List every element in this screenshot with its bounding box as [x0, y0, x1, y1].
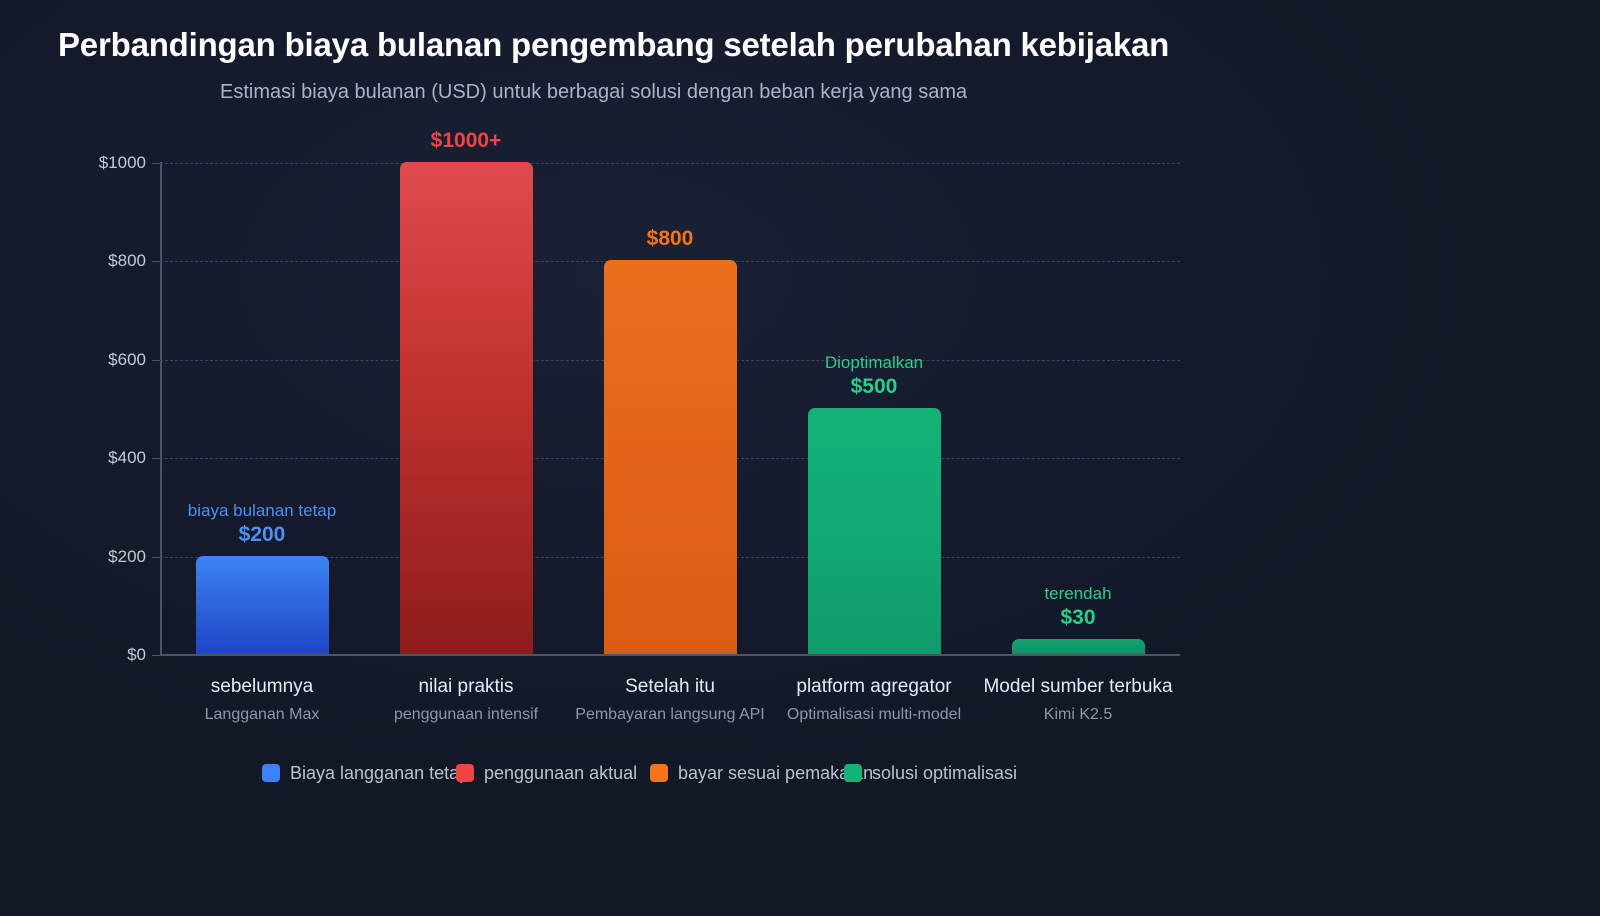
- bar-value-label: $800: [647, 226, 694, 252]
- legend-item[interactable]: Biaya langganan tetap: [262, 758, 469, 788]
- x-axis-sublabel: Langganan Max: [205, 706, 320, 724]
- legend-label: Biaya langganan tetap: [290, 763, 469, 784]
- grid-line: [160, 163, 1180, 164]
- legend-item[interactable]: solusi optimalisasi: [844, 758, 1017, 788]
- x-axis-sublabel: Optimalisasi multi-model: [787, 706, 961, 724]
- bar-value-annotation: Dioptimalkan$500: [825, 352, 923, 400]
- y-axis-tick-label: $800: [108, 251, 146, 271]
- bar-value-label: $1000+: [431, 128, 502, 154]
- bar-value-annotation: terendah$30: [1044, 583, 1111, 631]
- legend-color-swatch: [456, 764, 474, 782]
- y-axis-tick: [152, 655, 160, 656]
- y-axis-tick: [152, 557, 160, 558]
- y-axis-tick: [152, 458, 160, 459]
- chart-legend: Biaya langganan tetappenggunaan aktualba…: [0, 758, 1600, 788]
- y-axis-tick: [152, 163, 160, 164]
- x-axis-label: Setelah itu: [625, 676, 715, 698]
- x-axis-label: Model sumber terbuka: [983, 676, 1172, 698]
- legend-color-swatch: [844, 764, 862, 782]
- legend-label: solusi optimalisasi: [872, 763, 1017, 784]
- chart-canvas: Perbandingan biaya bulanan pengembang se…: [0, 0, 1600, 916]
- x-axis-line: [160, 654, 1180, 656]
- bar[interactable]: [400, 162, 533, 654]
- x-axis-sublabel: Kimi K2.5: [1044, 706, 1112, 724]
- legend-item[interactable]: bayar sesuai pemakaian: [650, 758, 873, 788]
- x-axis-label: nilai praktis: [418, 676, 513, 698]
- legend-color-swatch: [262, 764, 280, 782]
- chart-subtitle: Estimasi biaya bulanan (USD) untuk berba…: [220, 81, 967, 104]
- x-axis-sublabel: penggunaan intensif: [394, 706, 538, 724]
- bar[interactable]: [196, 556, 329, 654]
- bar-value-annotation: $1000+: [431, 128, 502, 154]
- chart-title: Perbandingan biaya bulanan pengembang se…: [58, 26, 1169, 64]
- x-axis-label: platform agregator: [796, 676, 951, 698]
- bar[interactable]: [1012, 639, 1145, 654]
- bar-note-label: terendah: [1044, 583, 1111, 605]
- bar-note-label: biaya bulanan tetap: [188, 500, 336, 522]
- y-axis-tick: [152, 261, 160, 262]
- bar-value-label: $200: [188, 522, 336, 548]
- bar-note-label: Dioptimalkan: [825, 352, 923, 374]
- x-axis-sublabel: Pembayaran langsung API: [575, 706, 764, 724]
- bar[interactable]: [808, 408, 941, 654]
- y-axis-tick-label: $1000: [99, 153, 146, 173]
- y-axis-tick-label: $600: [108, 350, 146, 370]
- bar-value-annotation: $800: [647, 226, 694, 252]
- y-axis-line: [160, 162, 162, 656]
- bar-value-label: $500: [825, 374, 923, 400]
- y-axis-tick-label: $0: [127, 645, 146, 665]
- bar[interactable]: [604, 260, 737, 654]
- y-axis-tick: [152, 360, 160, 361]
- bar-value-label: $30: [1044, 605, 1111, 631]
- x-axis-label: sebelumnya: [211, 676, 313, 698]
- legend-label: penggunaan aktual: [484, 763, 637, 784]
- legend-item[interactable]: penggunaan aktual: [456, 758, 637, 788]
- y-axis-tick-label: $200: [108, 547, 146, 567]
- legend-color-swatch: [650, 764, 668, 782]
- y-axis-tick-label: $400: [108, 448, 146, 468]
- bar-value-annotation: biaya bulanan tetap$200: [188, 500, 336, 548]
